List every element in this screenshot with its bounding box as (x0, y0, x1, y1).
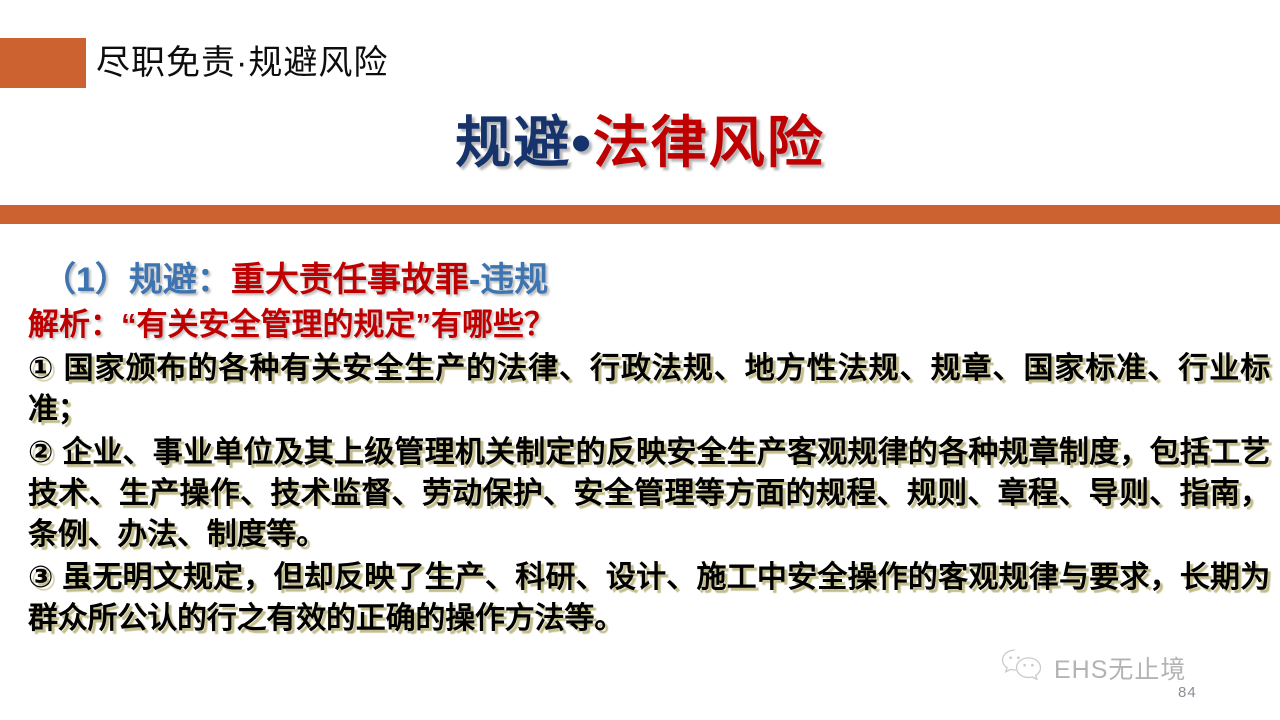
content-body: （1）规避：重大责任事故罪-违规 解析：“有关安全管理的规定”有哪些？ ① 国家… (28, 258, 1270, 639)
watermark: EHS无止境 (1000, 648, 1186, 687)
main-title-red: 法律风险 (593, 111, 825, 174)
content-heading-suffix: -违规 (469, 261, 548, 299)
wechat-icon (1000, 648, 1046, 687)
watermark-label: EHS无止境 (1054, 650, 1186, 686)
main-title: 规避•法律风险 (0, 106, 1280, 180)
header-title: 尽职免责·规避风险 (96, 38, 388, 88)
content-item-2: ② 企业、事业单位及其上级管理机关制定的反映安全生产客观规律的各种规章制度，包括… (28, 432, 1270, 555)
content-heading-crime: 重大责任事故罪 (231, 261, 469, 299)
content-item-3: ③ 虽无明文规定，但却反映了生产、科研、设计、施工中安全操作的客观规律与要求，长… (28, 557, 1270, 639)
section-divider (0, 205, 1280, 224)
main-title-bullet: • (571, 111, 593, 174)
content-item-1: ① 国家颁布的各种有关安全生产的法律、行政法规、地方性法规、规章、国家标准、行业… (28, 348, 1270, 430)
content-heading: （1）规避：重大责任事故罪-违规 (42, 258, 1270, 302)
slide-canvas: 尽职免责·规避风险 规避•法律风险 （1）规避：重大责任事故罪-违规 解析：“有… (0, 0, 1280, 720)
header-accent-block (0, 38, 86, 88)
page-number: 84 (1178, 684, 1197, 701)
main-title-navy: 规避 (455, 111, 571, 174)
content-heading-prefix: （1）规避： (42, 261, 231, 299)
content-subheading: 解析：“有关安全管理的规定”有哪些？ (28, 304, 1270, 346)
